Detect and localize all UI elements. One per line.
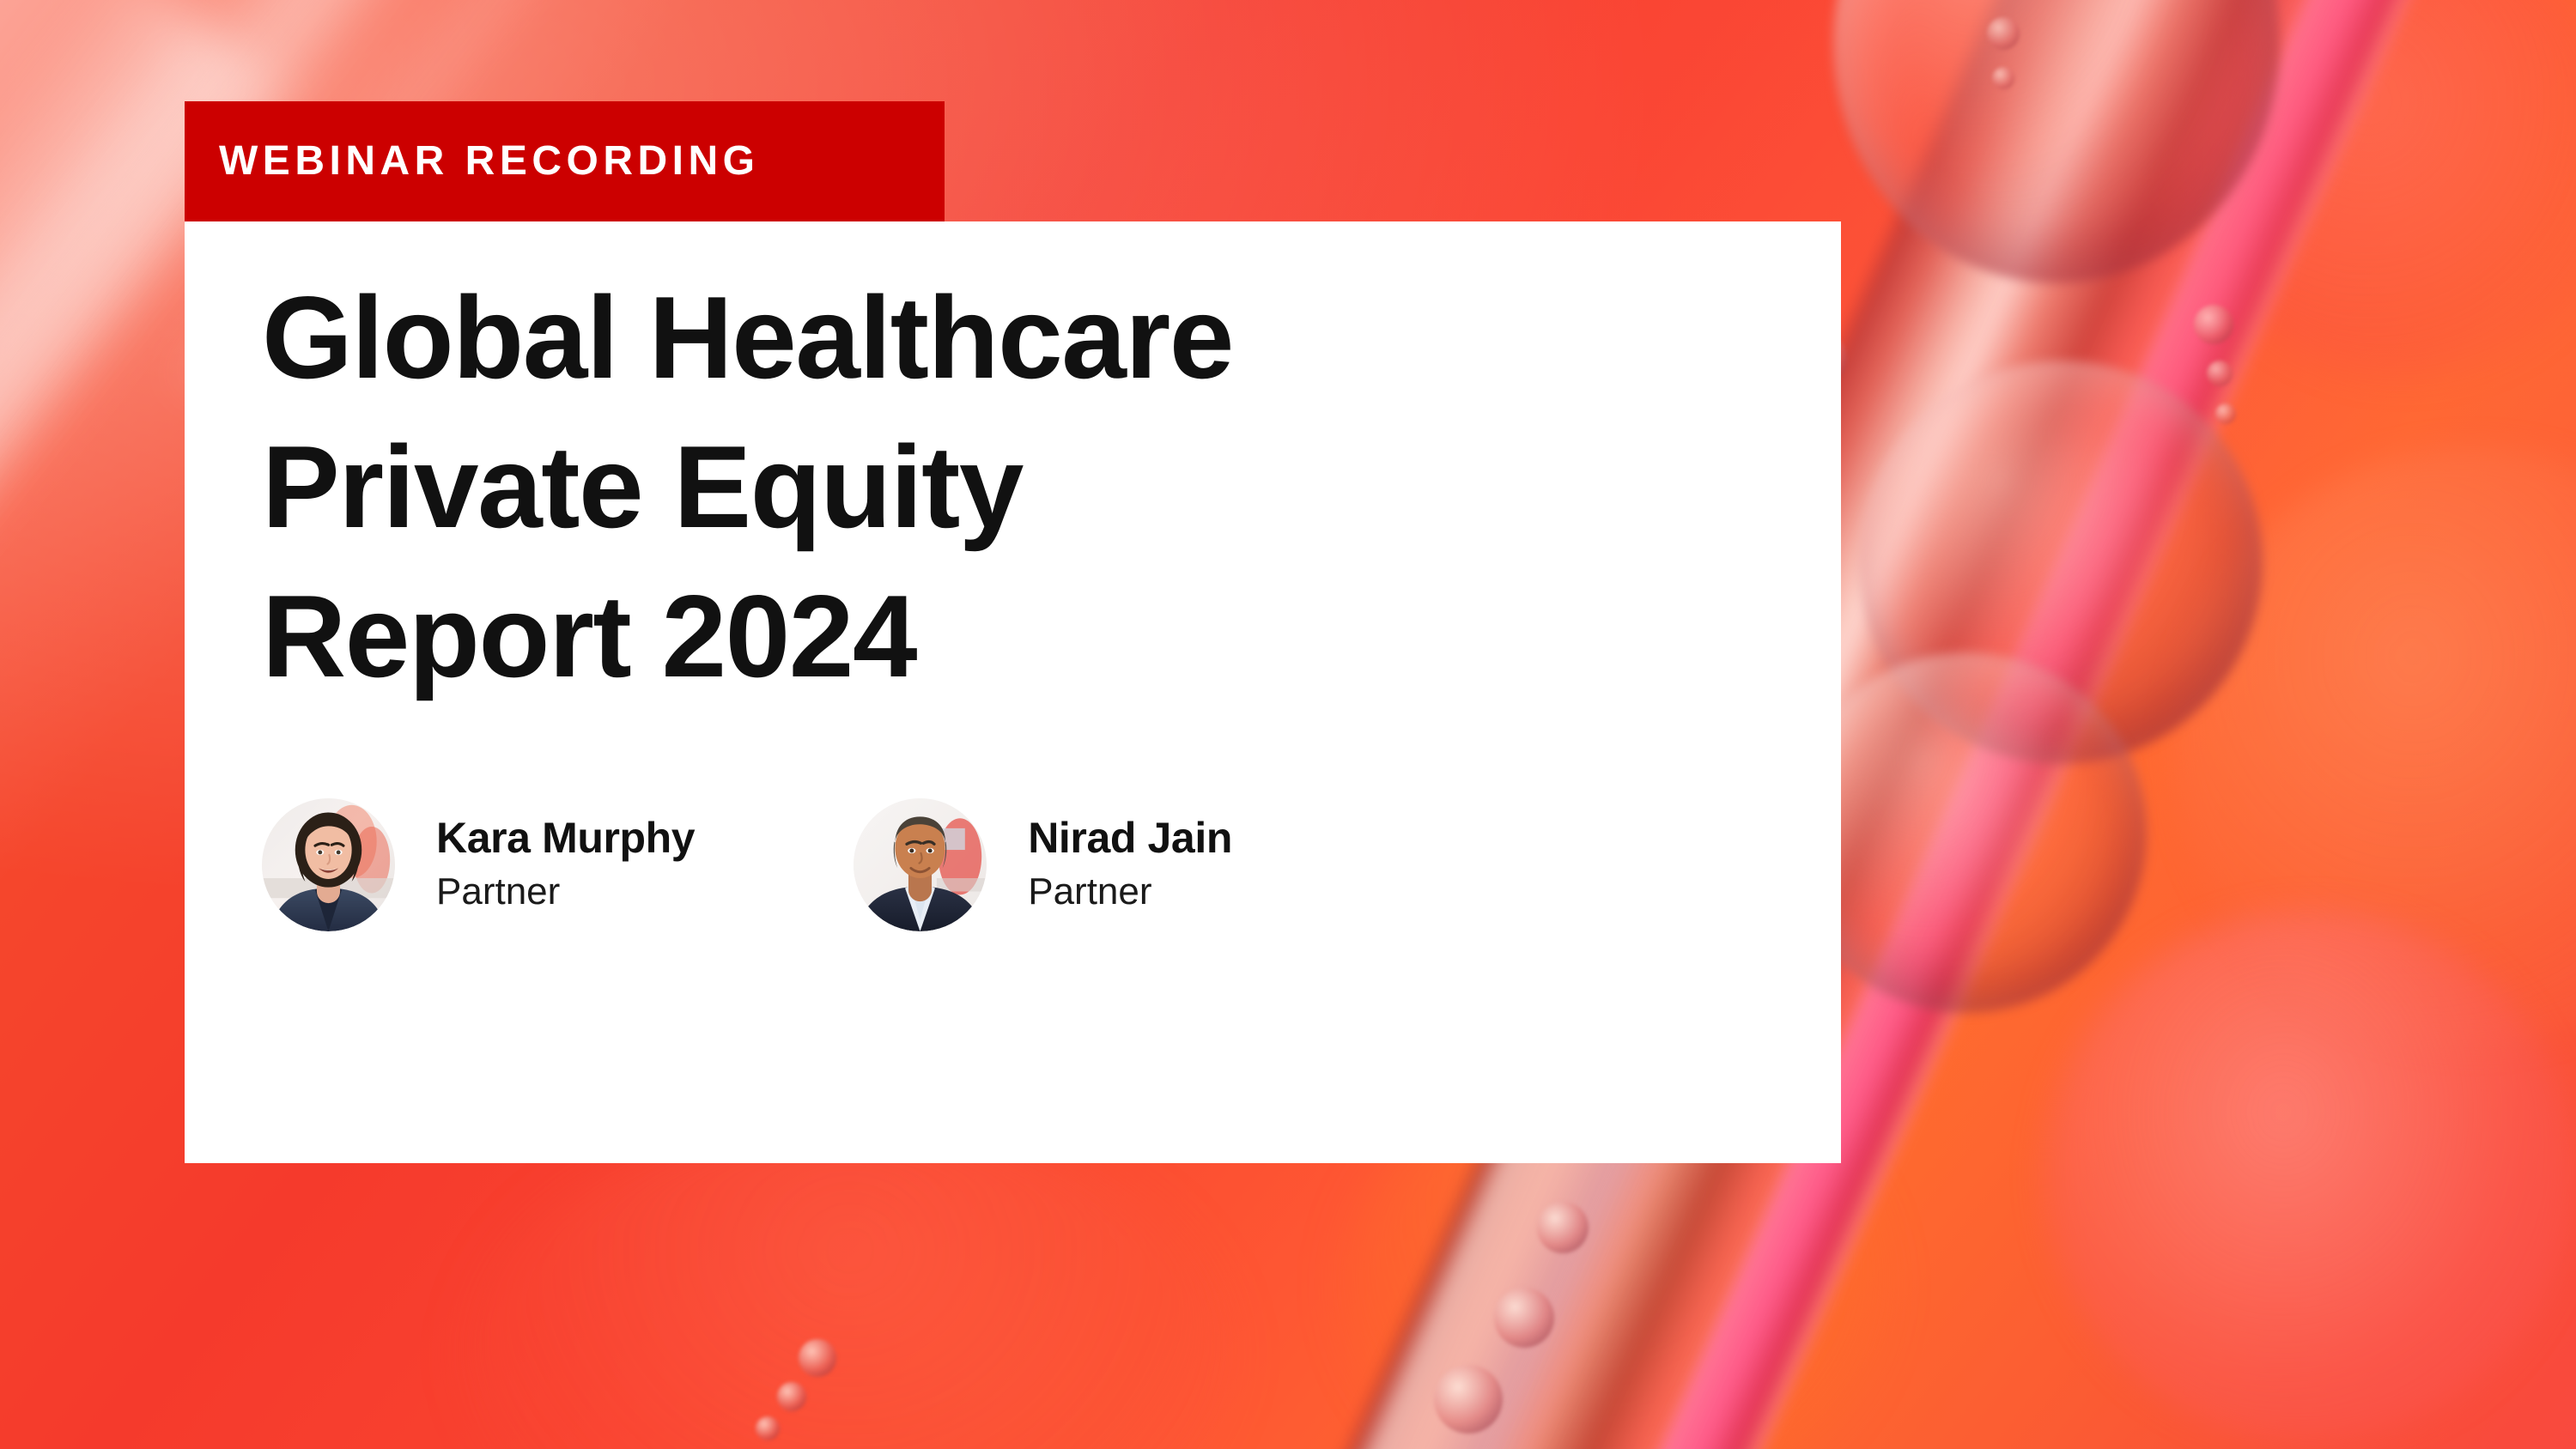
headshot-kara-murphy-icon [262, 798, 395, 931]
webinar-promo-slide: WEBINAR RECORDING Global Healthcare Priv… [0, 0, 2576, 1449]
avatar [262, 798, 395, 931]
speaker-role: Partner [436, 867, 695, 916]
speaker-list: Kara Murphy Partner [262, 798, 1232, 931]
speaker-role: Partner [1028, 867, 1232, 916]
speaker-name: Nirad Jain [1028, 814, 1232, 864]
speaker-item: Kara Murphy Partner [262, 798, 695, 931]
page-title: Global Healthcare Private Equity Report … [262, 263, 1233, 711]
speaker-text: Kara Murphy Partner [436, 814, 695, 916]
speaker-text: Nirad Jain Partner [1028, 814, 1232, 916]
headshot-nirad-jain-icon [854, 798, 987, 931]
content-card: Global Healthcare Private Equity Report … [185, 221, 1841, 1163]
badge-label: WEBINAR RECORDING [185, 141, 760, 182]
avatar [854, 798, 987, 931]
speaker-item: Nirad Jain Partner [854, 798, 1232, 931]
webinar-recording-badge: WEBINAR RECORDING [185, 101, 945, 221]
speaker-name: Kara Murphy [436, 814, 695, 864]
